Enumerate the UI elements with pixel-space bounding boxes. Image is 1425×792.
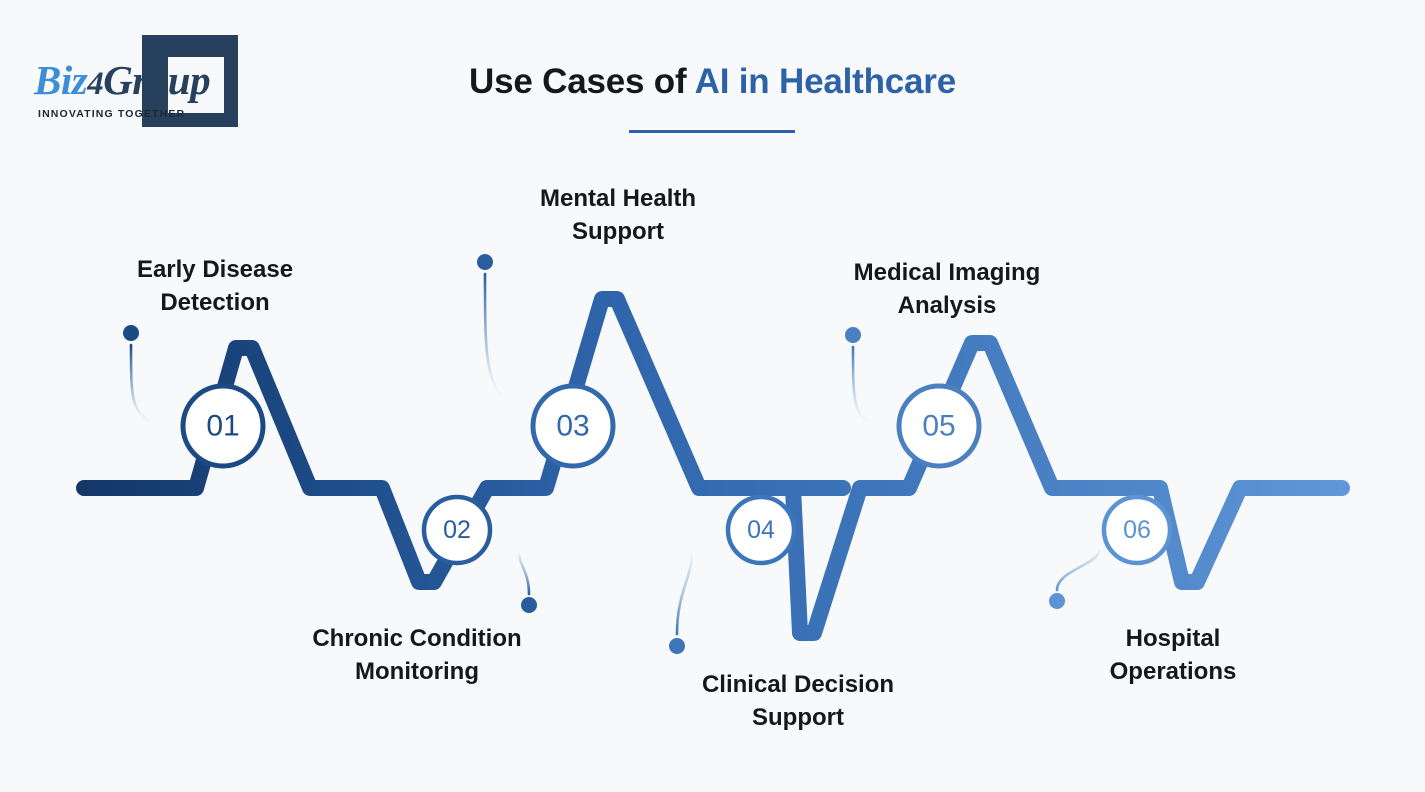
step-marker-02[interactable]: 02 [424,497,490,563]
step-label-medical-imaging-analysis: Medical Imaging Analysis [826,256,1068,322]
connector-dot-05 [845,327,861,343]
connector-dot-06 [1049,593,1065,609]
infographic-canvas: Biz4Group INNOVATING TOGETHER Use Cases … [0,0,1425,792]
connector-dot-02 [521,597,537,613]
step-number-02: 02 [443,516,471,544]
step-label-chronic-condition-monitoring: Chronic Condition Monitoring [292,622,542,688]
connector-dot-03 [477,254,493,270]
logo-tagline: INNOVATING TOGETHER [38,108,185,120]
waveform-line [84,299,1342,633]
connector-06 [1049,548,1100,609]
step-number-04: 04 [747,516,775,544]
step-number-03: 03 [556,410,589,443]
step-marker-04[interactable]: 04 [728,497,794,563]
step-label-clinical-decision-support: Clinical Decision Support [673,668,923,734]
step-label-mental-health-support: Mental Health Support [498,182,738,248]
logo-wordmark: Biz4Group [34,56,210,104]
step-marker-05[interactable]: 05 [899,386,979,466]
connector-line-03 [485,274,503,398]
step-marker-01[interactable]: 01 [183,386,263,466]
connector-04 [669,552,692,654]
connector-05 [845,327,873,424]
step-number-01: 01 [206,410,239,443]
logo-word-group: Group [103,57,210,103]
step-number-05: 05 [922,410,955,443]
step-marker-03[interactable]: 03 [533,386,613,466]
connector-line-06 [1057,548,1100,590]
logo-word-four: 4 [87,66,103,102]
step-marker-06[interactable]: 06 [1104,497,1170,563]
connector-line-04 [677,552,692,634]
connector-01 [123,325,155,424]
step-label-early-disease-detection: Early Disease Detection [95,253,335,319]
connector-line-02 [519,552,529,594]
connector-03 [477,254,503,398]
logo-word-biz: Biz [34,57,87,103]
step-label-hospital-operations: Hospital Operations [1068,622,1278,688]
connector-dot-04 [669,638,685,654]
step-number-06: 06 [1123,516,1151,544]
connector-02 [519,552,537,613]
connector-line-01 [131,345,155,424]
connector-dot-01 [123,325,139,341]
connector-line-05 [853,347,873,424]
